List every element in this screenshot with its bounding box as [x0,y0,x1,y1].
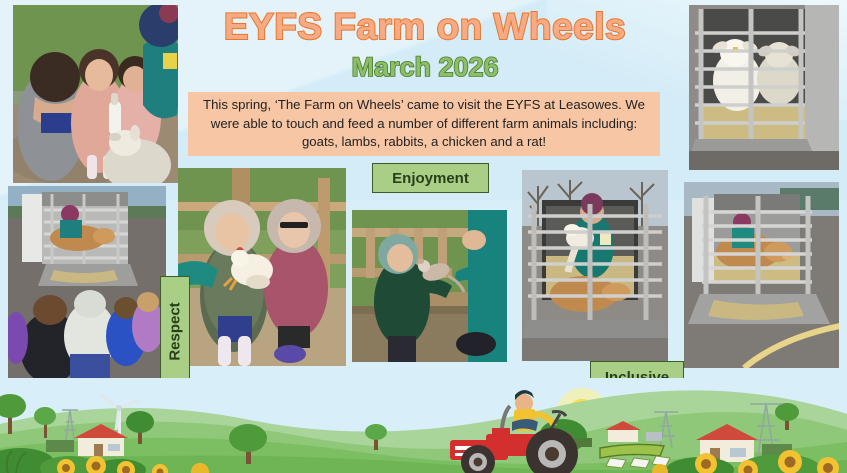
poster-page: EYFS Farm on Wheels March 2026 This spri… [0,0,847,473]
photo-feeding-lamb [13,5,178,183]
intro-text-box: This spring, ‘The Farm on Wheels’ came t… [188,92,660,156]
page-subtitle: March 2026 [200,52,650,83]
badge-respect: Respect [160,276,190,386]
badge-respect-label: Respect [167,302,184,360]
farm-scene-border [0,378,847,473]
photo-two-lambs [689,5,839,170]
badge-enjoyment: Enjoyment [372,163,489,193]
photo-trailer-lamb [522,170,668,361]
page-title: EYFS Farm on Wheels [200,8,650,47]
photo-chicken [178,168,346,366]
badge-enjoyment-label: Enjoyment [392,170,469,187]
photo-children-watching [8,186,166,390]
photo-rat [352,210,507,362]
photo-goat-ramp [684,182,839,368]
